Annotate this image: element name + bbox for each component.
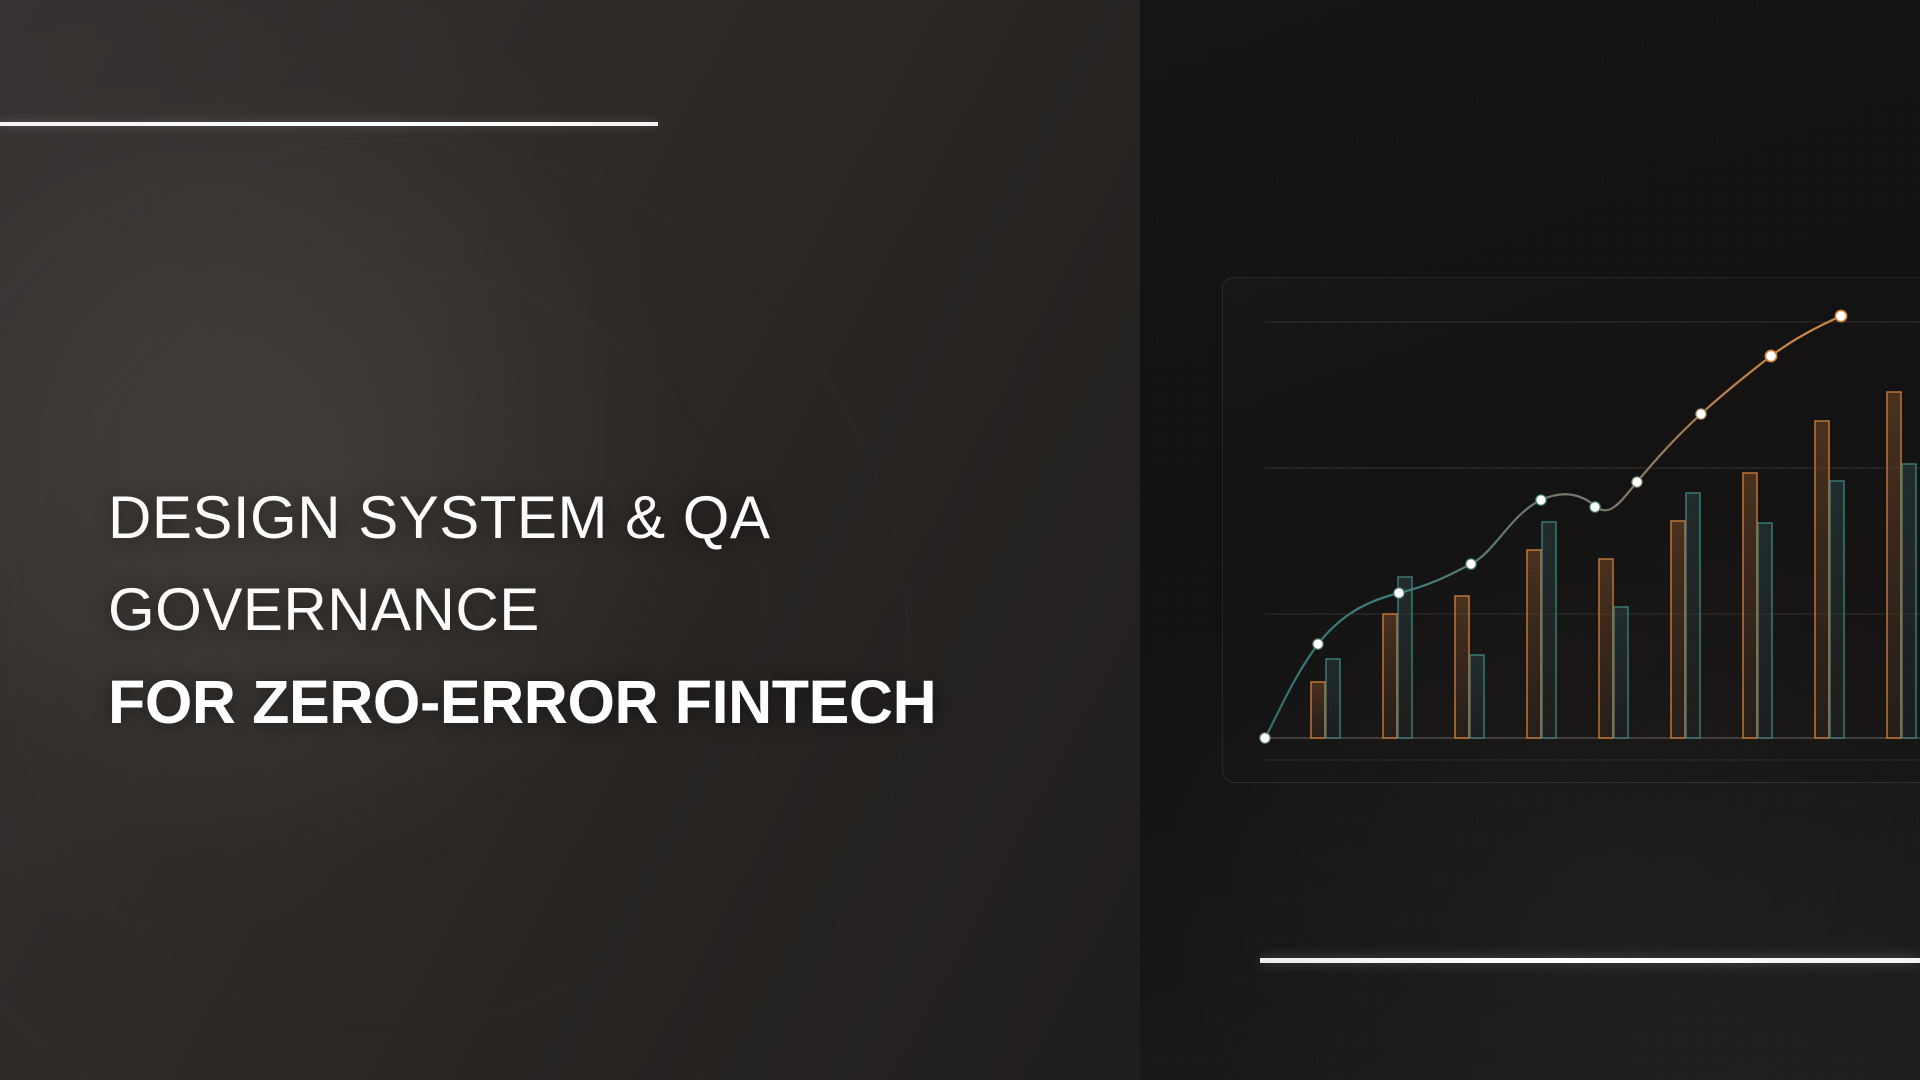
bar-secondary (1758, 523, 1772, 738)
bar-secondary (1614, 607, 1628, 738)
data-point-marker (1590, 502, 1600, 512)
data-point-marker (1260, 733, 1270, 743)
bar-primary (1599, 559, 1613, 738)
chart-bars (1311, 392, 1916, 738)
bar-secondary (1326, 659, 1340, 738)
bar-primary (1455, 596, 1469, 738)
data-point-marker (1536, 495, 1546, 505)
headline-line-1: DESIGN SYSTEM & QA (108, 472, 1008, 564)
bar-secondary (1686, 493, 1700, 738)
bar-primary (1311, 682, 1325, 738)
bar-primary (1671, 521, 1685, 738)
top-accent-rule (0, 122, 658, 126)
bottom-accent-rule (1260, 958, 1920, 963)
bar-secondary (1470, 655, 1484, 738)
bar-secondary (1398, 577, 1412, 738)
headline-line-3: FOR ZERO-ERROR FINTECH (108, 656, 1008, 748)
bar-primary (1887, 392, 1901, 738)
data-point-marker (1765, 350, 1776, 361)
data-point-marker (1696, 409, 1706, 419)
bar-secondary (1542, 522, 1556, 738)
data-point-marker (1835, 310, 1846, 321)
bar-primary (1527, 550, 1541, 738)
growth-chart (1223, 278, 1920, 783)
data-point-marker (1313, 639, 1323, 649)
data-point-marker (1466, 559, 1476, 569)
bar-secondary (1830, 481, 1844, 738)
chart-card (1222, 277, 1920, 783)
bar-primary (1383, 614, 1397, 738)
bar-secondary (1902, 464, 1916, 738)
page-title: DESIGN SYSTEM & QA GOVERNANCE FOR ZERO-E… (108, 472, 1008, 748)
bar-primary (1815, 421, 1829, 738)
slide-root: DESIGN SYSTEM & QA GOVERNANCE FOR ZERO-E… (0, 0, 1920, 1080)
data-point-marker (1632, 477, 1642, 487)
data-point-marker (1394, 588, 1404, 598)
headline-line-2: GOVERNANCE (108, 564, 1008, 656)
bar-primary (1743, 473, 1757, 738)
